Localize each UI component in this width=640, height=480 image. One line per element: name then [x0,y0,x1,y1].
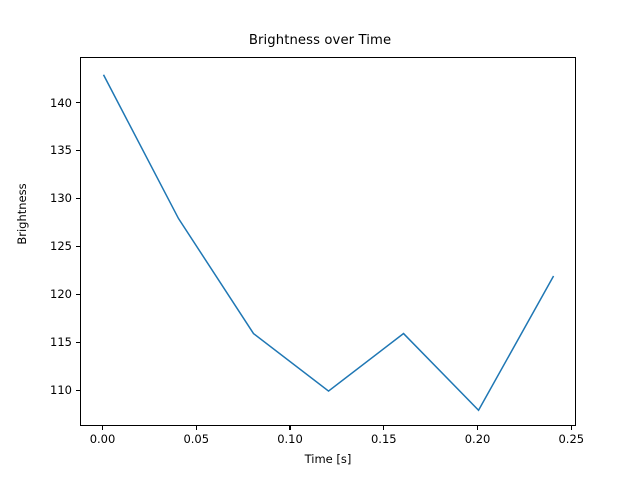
x-tick-mark [477,426,478,430]
y-tick-mark [76,246,80,247]
y-tick-mark [76,294,80,295]
x-tick-mark [383,426,384,430]
x-tick-label: 0.20 [448,432,508,446]
y-axis-label: Brightness [15,154,29,274]
y-tick-mark [76,150,80,151]
y-tick-label: 125 [28,239,72,253]
y-tick-mark [76,102,80,103]
y-tick-label: 110 [28,383,72,397]
x-axis-label: Time [s] [80,452,576,466]
plot-canvas [81,58,577,427]
x-tick-label: 0.25 [541,432,601,446]
y-tick-mark [76,342,80,343]
x-tick-mark [289,426,290,430]
brightness-line-series [104,75,554,410]
chart-title: Brightness over Time [0,33,640,48]
x-tick-mark [196,426,197,430]
y-tick-mark [76,198,80,199]
x-tick-mark [102,426,103,430]
y-tick-label: 120 [28,287,72,301]
x-tick-label: 0.15 [354,432,414,446]
y-tick-mark [76,390,80,391]
plot-axes [80,57,576,426]
y-tick-label: 140 [28,96,72,110]
x-tick-label: 0.05 [166,432,226,446]
x-tick-mark [571,426,572,430]
matplotlib-figure: Brightness over Time Brightness Time [s]… [0,0,640,480]
y-tick-label: 115 [28,335,72,349]
y-tick-label: 130 [28,191,72,205]
x-tick-label: 0.00 [73,432,133,446]
y-tick-label: 135 [28,143,72,157]
x-tick-label: 0.10 [260,432,320,446]
